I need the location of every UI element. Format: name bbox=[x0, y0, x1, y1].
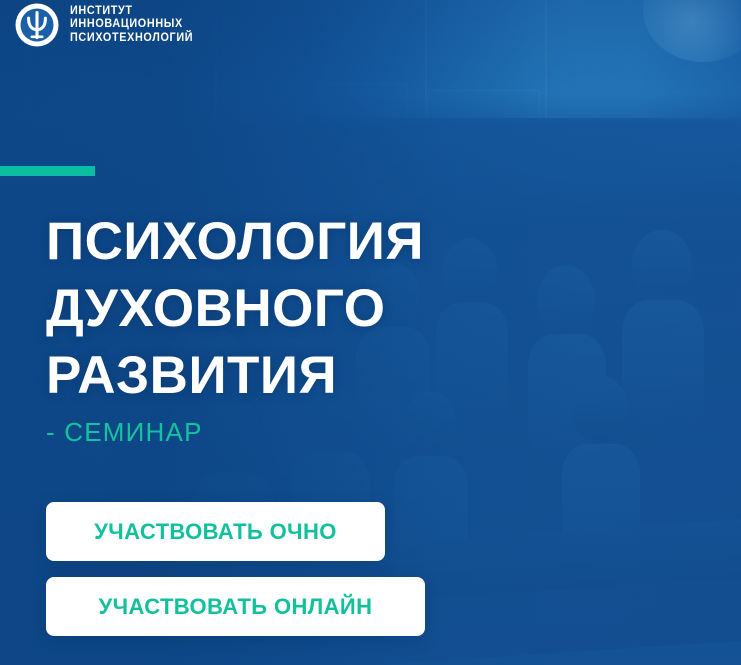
participate-online-button[interactable]: УЧАСТВОВАТЬ ОНЛАЙН bbox=[46, 577, 425, 636]
accent-bar bbox=[0, 166, 95, 176]
logo-line-1: ИНСТИТУТ bbox=[70, 5, 133, 17]
headline-line-3: РАЗВИТИЯ bbox=[46, 342, 606, 409]
headline-line-1: ПСИХОЛОГИЯ bbox=[46, 208, 606, 275]
subtitle: - СЕМИНАР bbox=[46, 415, 203, 449]
logo-line-3: ПСИХОТЕХНОЛОГИЙ bbox=[70, 32, 193, 44]
logo-line-2: ИННОВАЦИОННЫХ bbox=[70, 18, 183, 30]
page-title: ПСИХОЛОГИЯ ДУХОВНОГО РАЗВИТИЯ bbox=[46, 208, 606, 409]
participate-in-person-button[interactable]: УЧАСТВОВАТЬ ОЧНО bbox=[46, 502, 385, 561]
cta-group: УЧАСТВОВАТЬ ОЧНО УЧАСТВОВАТЬ ОНЛАЙН bbox=[46, 502, 425, 636]
headline-line-2: ДУХОВНОГО bbox=[46, 275, 606, 342]
logo-wordmark: ИНСТИТУТ ИННОВАЦИОННЫХ ПСИХОТЕХНОЛОГИЙ bbox=[70, 5, 193, 45]
site-logo[interactable]: ИНСТИТУТ ИННОВАЦИОННЫХ ПСИХОТЕХНОЛОГИЙ bbox=[14, 2, 201, 48]
psi-circle-icon bbox=[14, 2, 60, 48]
hero-banner: ИНСТИТУТ ИННОВАЦИОННЫХ ПСИХОТЕХНОЛОГИЙ П… bbox=[0, 0, 741, 665]
